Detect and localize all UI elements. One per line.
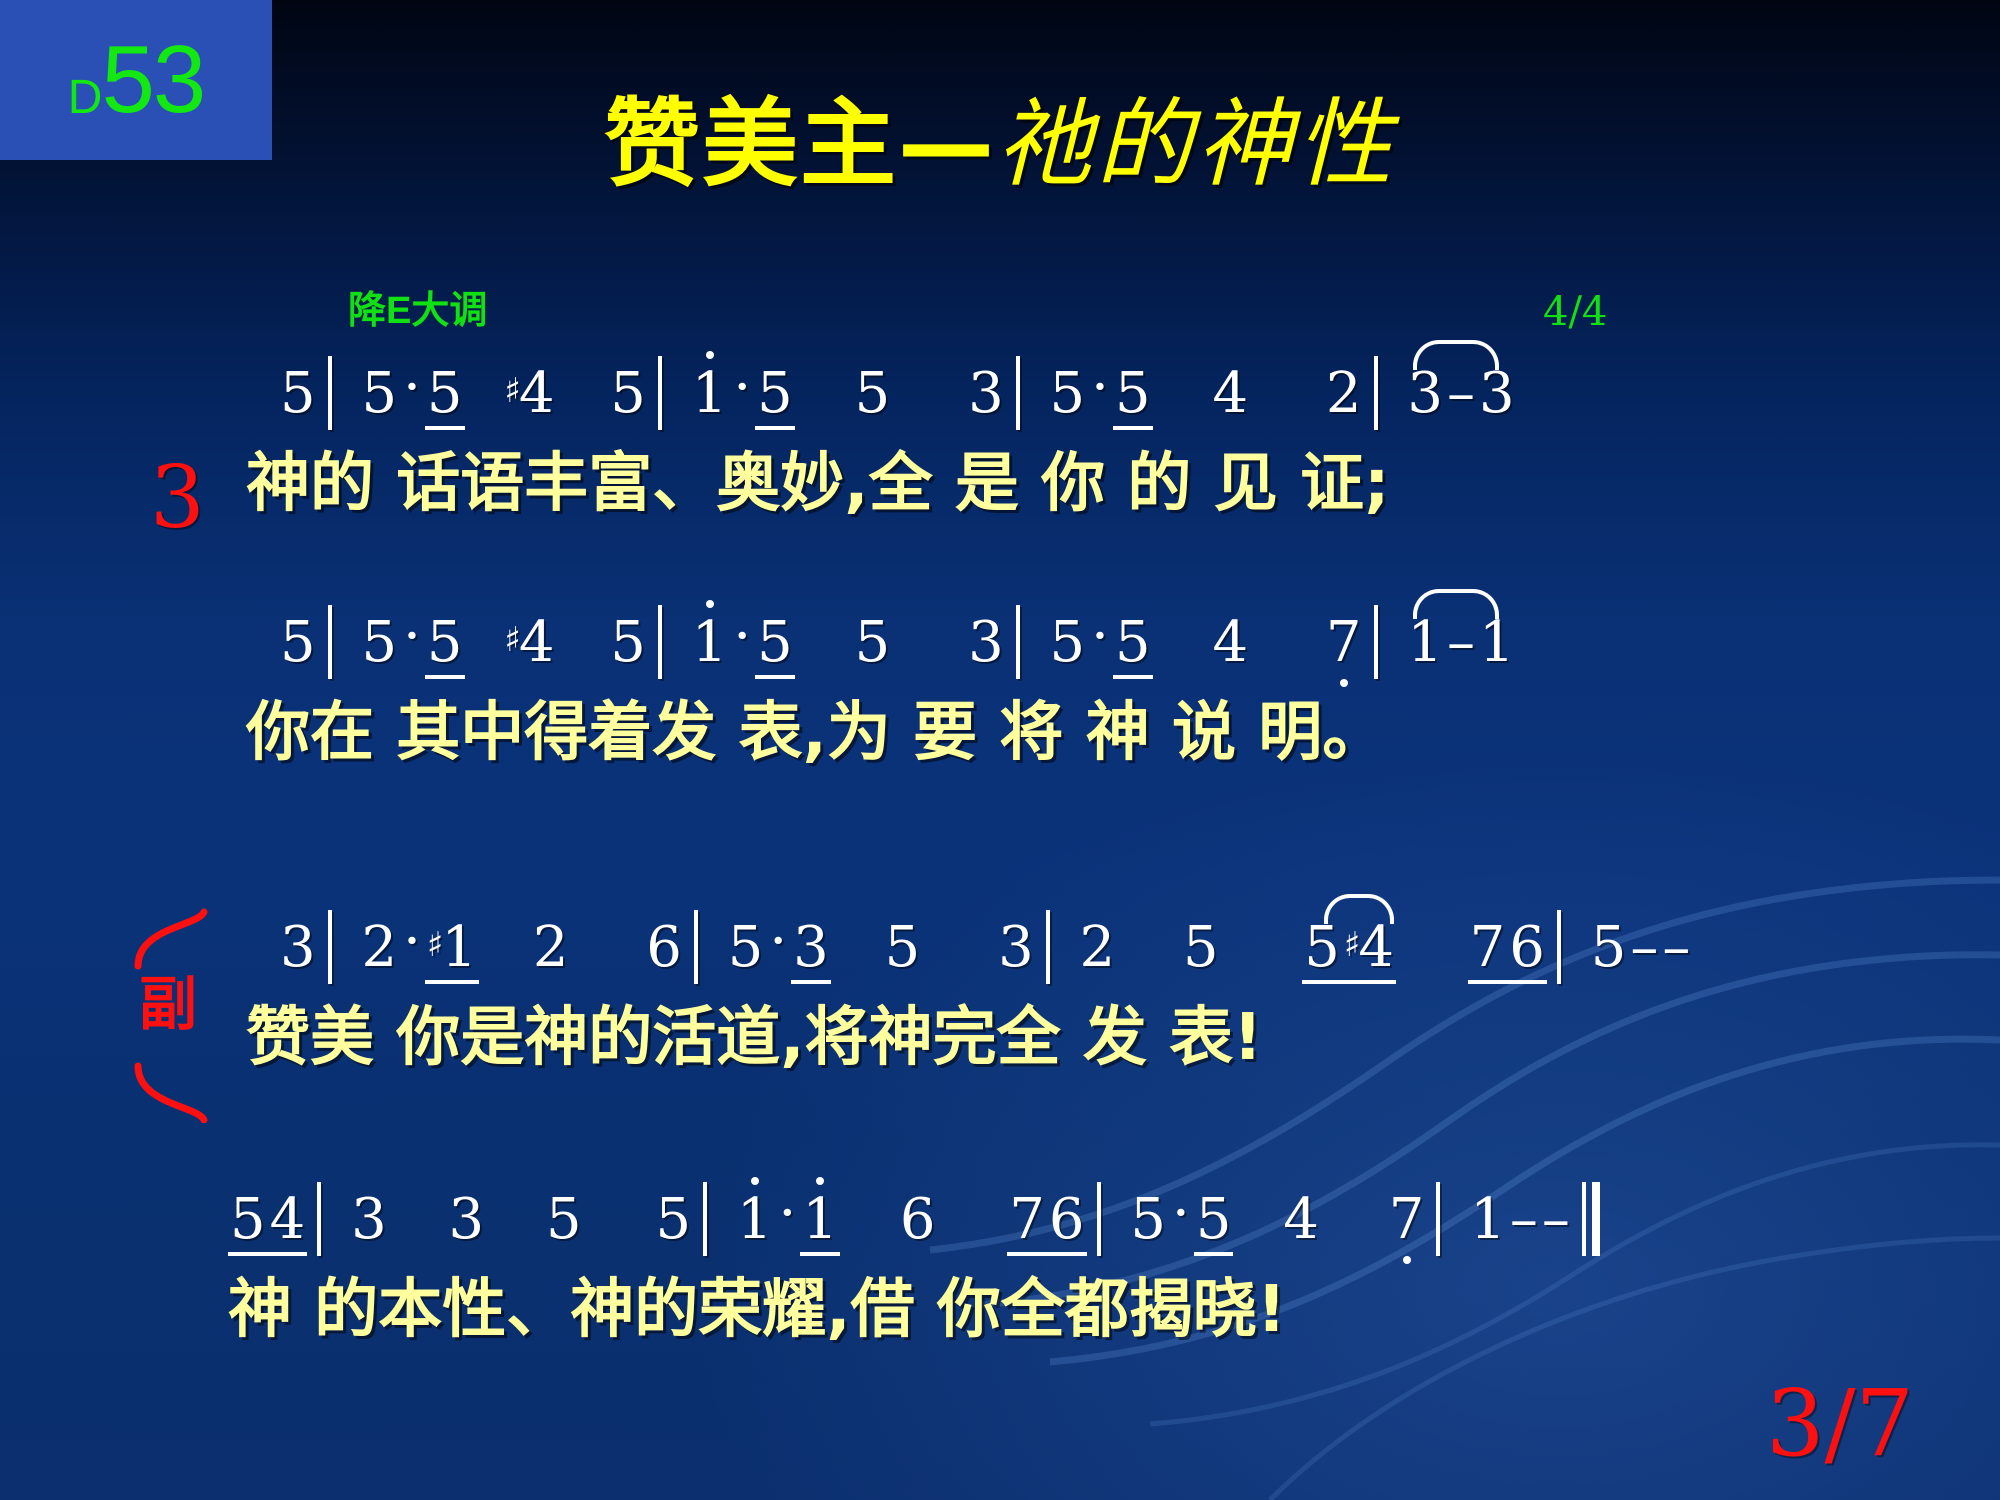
lyrics-line-2: 你在 其中得着发 表,为 要 将 神 说 明。 <box>246 701 2000 765</box>
barline <box>317 1182 321 1256</box>
notation-line-4: 54 3 3 5 5 1·1 6 76 5·5 4 7 1–– <box>228 1182 2000 1256</box>
barline <box>328 605 332 679</box>
barline <box>1557 910 1561 984</box>
final-barline <box>1582 1182 1600 1256</box>
barline <box>1436 1182 1440 1256</box>
barline <box>658 605 662 679</box>
page-indicator: 3/7 <box>1766 1378 1914 1470</box>
lyrics-line-3: 赞美 你是神的活道,将神完全 发 表! <box>246 1006 2000 1070</box>
barline <box>328 356 332 430</box>
stave-row-3: 3 2·♯1 2 6 5·3 5 3 2 5 5♯4 76 5–– 赞美 你是神… <box>0 910 2000 1070</box>
barline <box>694 910 698 984</box>
stave-row-1: 5 5·5 ♯4 5 1·5 5 3 5·5 4 2 3–3 神的 话语丰富、奥… <box>0 356 2000 516</box>
time-signature: 4/4 <box>1543 292 1607 332</box>
barline <box>1374 605 1378 679</box>
barline <box>1016 356 1020 430</box>
page-title: 赞美主—祂的神性 <box>0 96 2000 192</box>
notation-line-2: 5 5·5 ♯4 5 1·5 5 3 5·5 4 7 1–1 <box>278 605 2000 679</box>
barline <box>1016 605 1020 679</box>
barline <box>658 356 662 430</box>
lyrics-line-1: 神的 话语丰富、奥妙,全 是 你 的 见 证; <box>246 452 2000 516</box>
barline <box>1374 356 1378 430</box>
barline <box>328 910 332 984</box>
barline <box>1046 910 1050 984</box>
title-main: 赞美主— <box>604 88 996 200</box>
barline <box>1097 1182 1101 1256</box>
barline <box>703 1182 707 1256</box>
notation-line-3: 3 2·♯1 2 6 5·3 5 3 2 5 5♯4 76 5–– <box>278 910 2000 984</box>
stave-row-2: 5 5·5 ♯4 5 1·5 5 3 5·5 4 7 1–1 你在 其中得着发 … <box>0 605 2000 765</box>
stave-row-4: 54 3 3 5 5 1·1 6 76 5·5 4 7 1–– 神 的本性、神的… <box>0 1182 2000 1342</box>
title-subtitle: 祂的神性 <box>996 88 1396 200</box>
key-signature: 降E大调 <box>348 292 487 330</box>
lyrics-line-4: 神 的本性、神的荣耀,借 你全都揭晓! <box>228 1278 2000 1342</box>
notation-line-1: 5 5·5 ♯4 5 1·5 5 3 5·5 4 2 3–3 <box>278 356 2000 430</box>
